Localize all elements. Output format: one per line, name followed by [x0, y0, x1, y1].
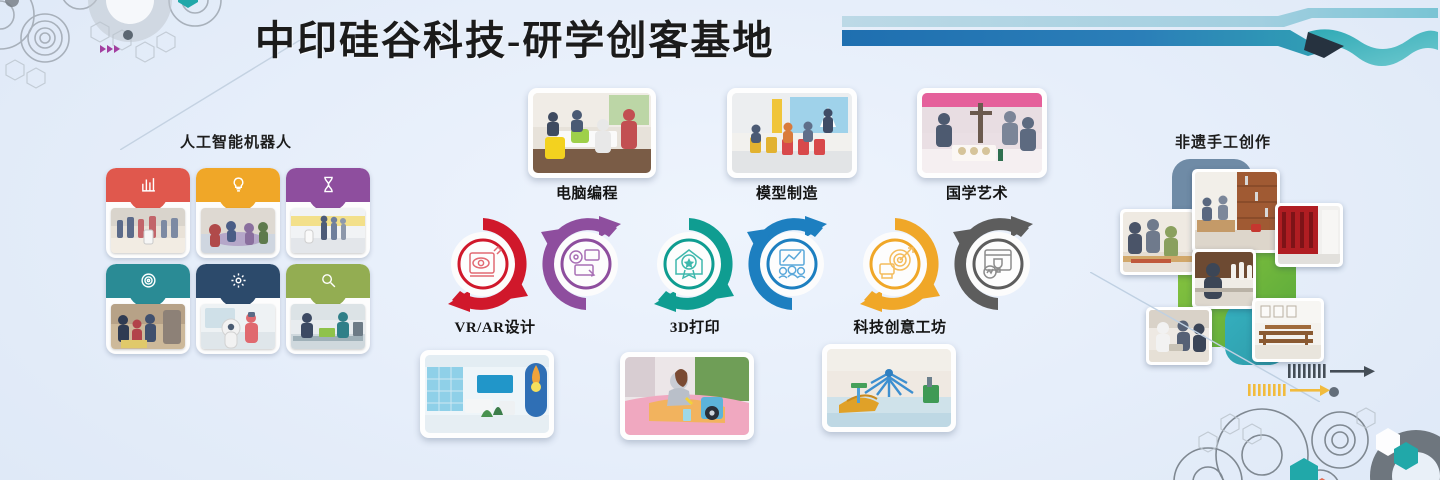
ring-caption-vr-ar: VR/AR设计: [430, 316, 560, 337]
target-icon: [106, 267, 190, 293]
card-photo: [111, 208, 185, 253]
grid-card[interactable]: [196, 264, 280, 354]
bottom-photo-card[interactable]: [620, 352, 754, 440]
card-photo: [291, 208, 365, 253]
heritage-craft-collage: [1100, 155, 1410, 380]
photo: [827, 349, 951, 427]
card-photo: [201, 208, 275, 253]
photo: [732, 93, 852, 173]
printing-ring[interactable]: [636, 212, 742, 316]
top-photo-card[interactable]: [528, 88, 656, 178]
model-ring[interactable]: [739, 212, 845, 316]
process-ring-row: [430, 212, 1050, 316]
ai-robot-card-grid: [106, 168, 374, 354]
bottom-photo-card[interactable]: [822, 344, 956, 432]
art-ring[interactable]: [945, 212, 1051, 316]
collage-photo[interactable]: [1120, 209, 1196, 275]
hourglass-icon: [286, 171, 370, 197]
right-section-heading: 非遗手工创作: [1175, 131, 1271, 152]
magnifier-icon: [286, 267, 370, 293]
grid-card[interactable]: [286, 264, 370, 354]
bar-chart-icon: [106, 171, 190, 197]
collage-photo[interactable]: [1275, 203, 1343, 267]
photo: [1255, 301, 1321, 359]
photo: [922, 93, 1042, 173]
poster-canvas: 中印硅谷科技-研学创客基地 人工智能机器人: [0, 0, 1440, 480]
card-photo: [291, 304, 365, 349]
top-photo-caption: 模型制造: [727, 182, 847, 203]
card-photo: [111, 304, 185, 349]
grid-card[interactable]: [286, 168, 370, 258]
collage-photo[interactable]: [1146, 307, 1212, 365]
workshop-ring[interactable]: [842, 212, 948, 316]
collage-photo[interactable]: [1252, 298, 1324, 362]
top-photo-caption: 电脑编程: [528, 182, 646, 203]
ribbon-decoration: [838, 6, 1438, 78]
grid-card[interactable]: [106, 168, 190, 258]
top-photo-card[interactable]: [727, 88, 857, 178]
collage-photo[interactable]: [1192, 169, 1280, 253]
collage-photo[interactable]: [1192, 249, 1256, 309]
photo: [1278, 206, 1340, 264]
ring-caption-workshop: 科技创意工坊: [820, 316, 980, 337]
ring-caption-3d-print: 3D打印: [640, 316, 750, 337]
vr-ar-ring[interactable]: [430, 212, 536, 316]
page-title: 中印硅谷科技-研学创客基地: [255, 8, 774, 66]
photo: [1195, 252, 1253, 306]
programming-ring[interactable]: [533, 212, 639, 316]
photo: [1123, 212, 1193, 272]
photo: [533, 93, 651, 173]
card-photo: [201, 304, 275, 349]
photo: [425, 355, 549, 433]
bottom-photo-card[interactable]: [420, 350, 554, 438]
left-section-heading: 人工智能机器人: [180, 131, 292, 152]
photo: [625, 357, 749, 435]
top-photo-caption: 国学艺术: [917, 182, 1037, 203]
grid-card[interactable]: [196, 168, 280, 258]
grid-card[interactable]: [106, 264, 190, 354]
top-photo-card[interactable]: [917, 88, 1047, 178]
gear-icon: [196, 267, 280, 293]
gear-decoration-top-left: [0, 0, 270, 130]
photo: [1195, 172, 1277, 250]
photo: [1149, 310, 1209, 362]
lightbulb-icon: [196, 171, 280, 197]
